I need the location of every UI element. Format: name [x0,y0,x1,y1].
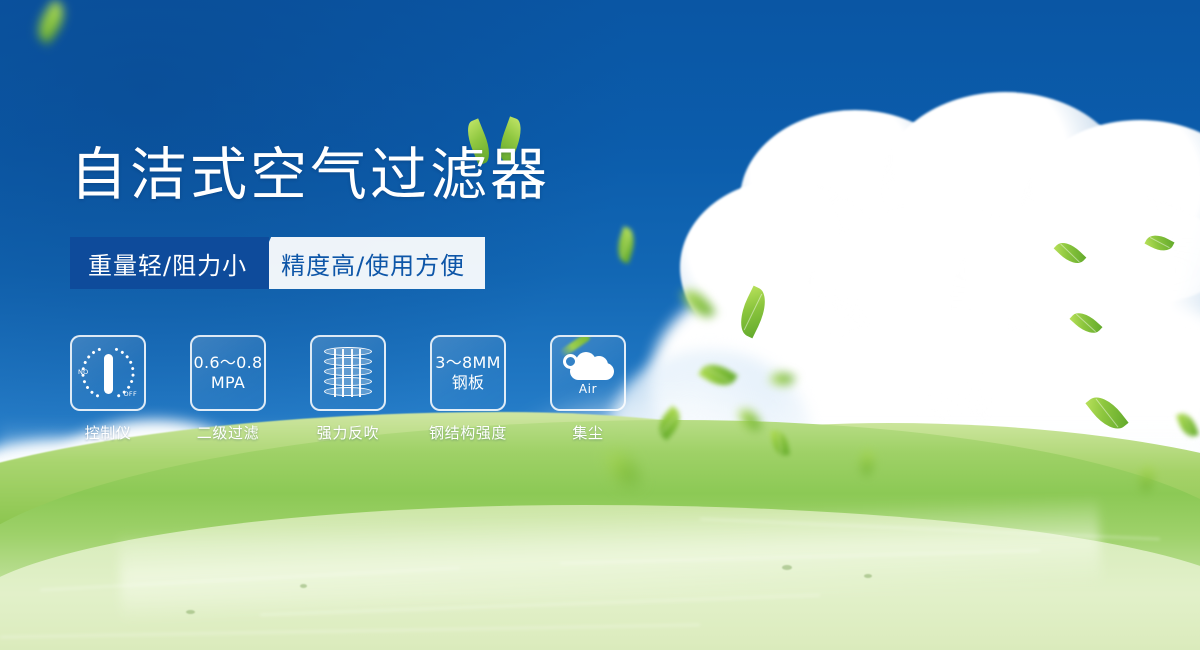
feature-icon-box: Air [550,335,626,411]
feature-icon-box: NO OFF [70,335,146,411]
subtitle-primary: 重量轻/阻力小 [70,237,269,289]
feature-label: 强力反吹 [317,422,379,443]
feature-icon-box [310,335,386,411]
subtitle-bar: 重量轻/阻力小 精度高/使用方便 [70,237,485,289]
feature-label: 控制仪 [85,422,132,443]
feature-item-pressure[interactable]: 0.6～0.8 MPA 二级过滤 [190,335,266,443]
feature-label: 二级过滤 [197,422,259,443]
feature-item-dust-collection[interactable]: Air 集尘 [550,335,626,443]
page-title: 自洁式空气过滤器 [70,140,550,210]
steel-value-line2: 钢板 [452,373,485,393]
dial-label-no: NO [78,368,89,376]
feature-icon-box: 0.6～0.8 MPA [190,335,266,411]
dial-label-off: OFF [124,390,138,398]
feature-list: NO OFF 控制仪 0.6～0.8 MPA 二级过滤 [70,335,626,443]
air-cloud-icon [562,350,614,380]
filter-cartridge-icon [324,345,372,401]
pressure-value-line1: 0.6～0.8 [194,353,263,373]
feature-item-backflush[interactable]: 强力反吹 [310,335,386,443]
pressure-value-line2: MPA [211,373,245,393]
feature-label: 集尘 [572,422,603,443]
dial-pointer [104,354,113,394]
feature-label: 钢结构强度 [429,422,507,443]
feature-item-steel-plate[interactable]: 3～8MM 钢板 钢结构强度 [430,335,506,443]
steel-value-line1: 3～8MM [435,353,500,373]
product-banner: 自洁式空气过滤器 重量轻/阻力小 精度高/使用方便 [0,0,1200,650]
air-caption: Air [579,382,597,396]
feature-item-control-dial[interactable]: NO OFF 控制仪 [70,335,146,443]
subtitle-secondary: 精度高/使用方便 [249,237,485,289]
feature-icon-box: 3～8MM 钢板 [430,335,506,411]
control-dial-icon: NO OFF [77,342,139,404]
